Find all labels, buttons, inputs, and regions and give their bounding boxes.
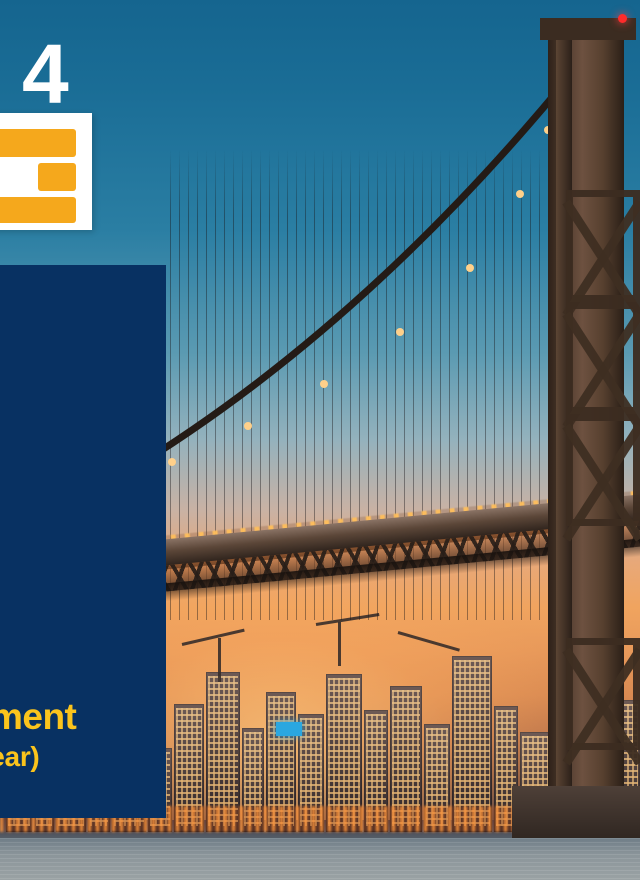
logo-year-numeral: 4	[22, 32, 67, 116]
banner-image: 4 TY S estment year) money 0) cience	[0, 0, 640, 880]
logo-bar-icon	[0, 197, 76, 223]
logo-plate: TY S	[0, 113, 92, 230]
text-panel: estment year) money 0) cience	[0, 265, 166, 818]
logo-bar-icon	[0, 129, 76, 157]
water-ripples	[0, 838, 640, 880]
bay-water	[0, 838, 640, 880]
logo-bar-icon	[38, 163, 76, 191]
panel-headline-investment: estment	[0, 698, 76, 735]
panel-subline-per-year: year)	[0, 743, 39, 771]
